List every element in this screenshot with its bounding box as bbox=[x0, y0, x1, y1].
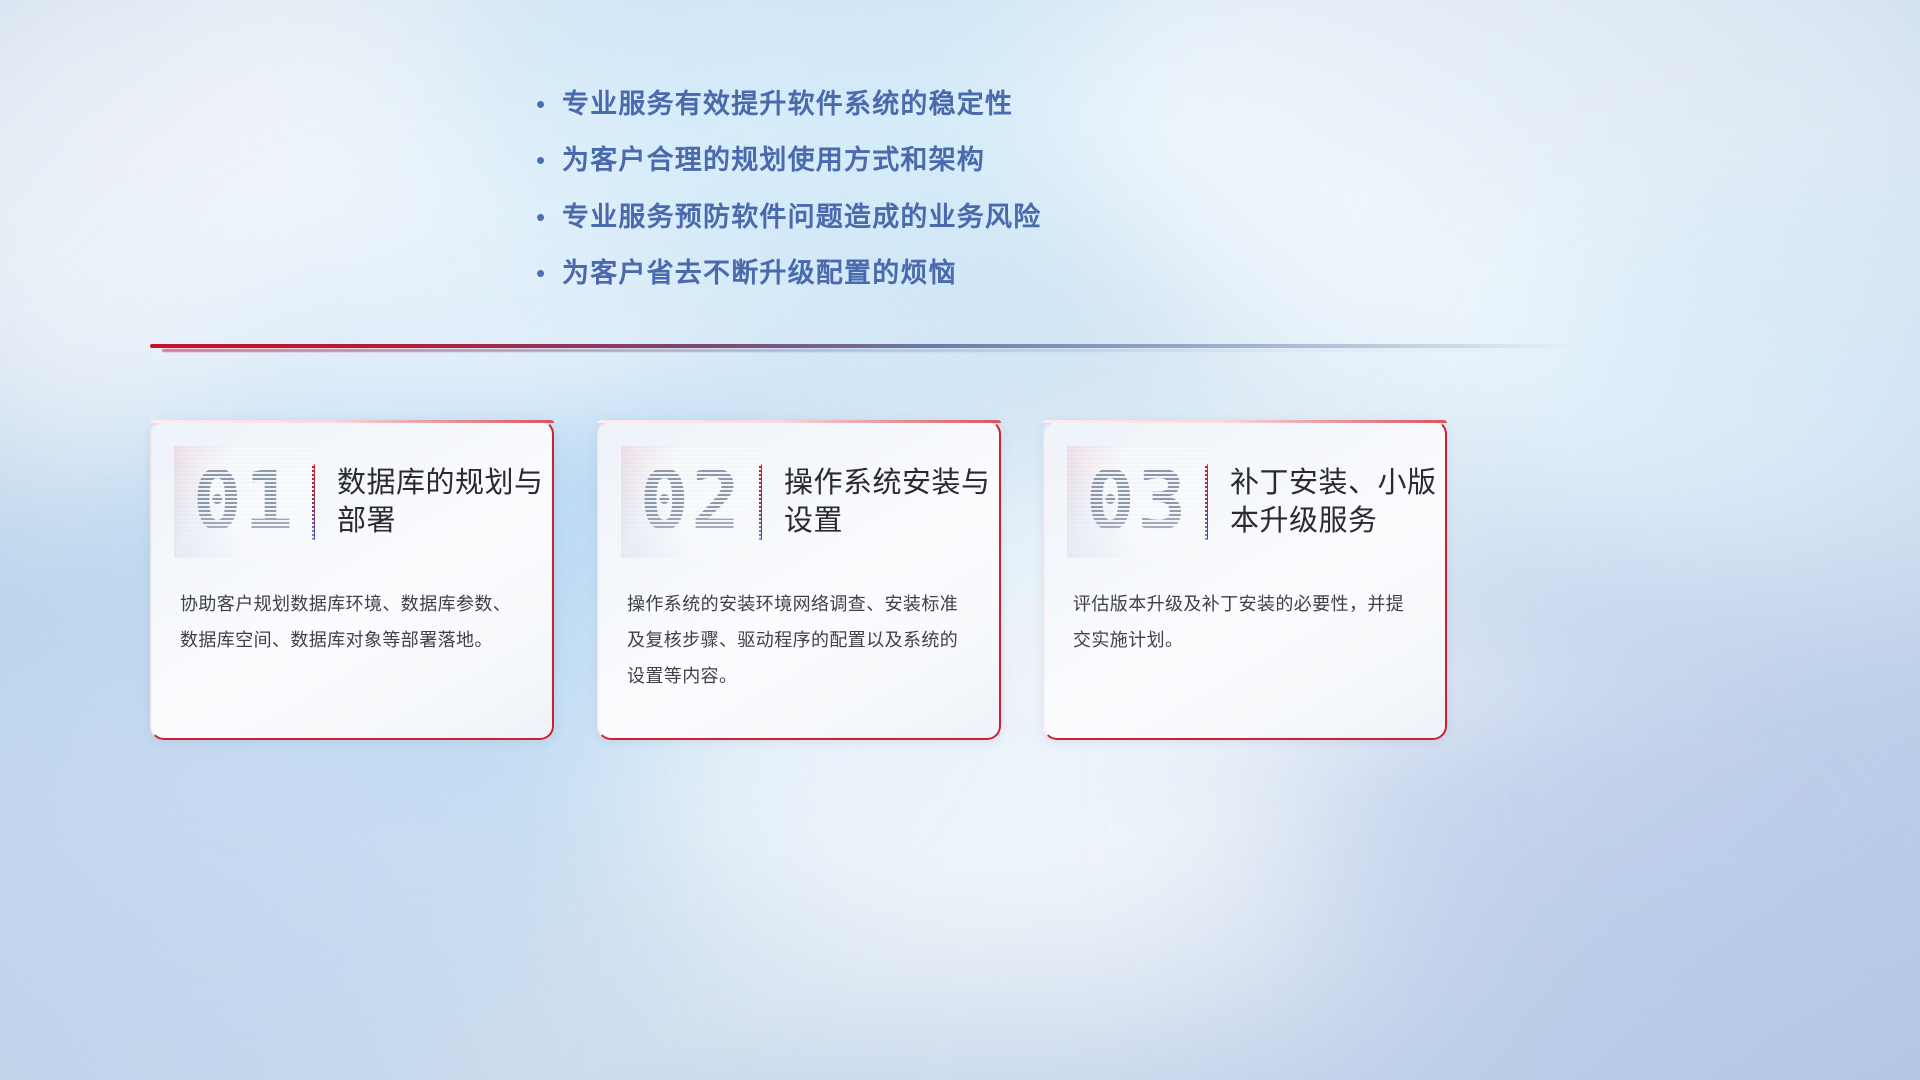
bullet-marker-icon: • bbox=[528, 91, 562, 117]
bullet-marker-icon: • bbox=[528, 204, 562, 230]
card-03[interactable]: 03 补丁安装、小版本升级服务 评估版本升级及补丁安装的必要性，并提交实施计划。 bbox=[1043, 420, 1447, 740]
bullet-marker-icon: • bbox=[528, 260, 562, 286]
bullet-item: • 为客户合理的规划使用方式和架构 bbox=[528, 142, 1288, 178]
card-header: 02 操作系统安装与设置 bbox=[597, 442, 1001, 562]
bullet-item: • 为客户省去不断升级配置的烦恼 bbox=[528, 255, 1288, 291]
bullet-list: • 专业服务有效提升软件系统的稳定性 • 为客户合理的规划使用方式和架构 • 专… bbox=[528, 86, 1288, 312]
card-header: 01 数据库的规划与部署 bbox=[150, 442, 554, 562]
divider-line-primary bbox=[150, 344, 1574, 348]
card-accent-bar bbox=[312, 464, 315, 540]
bullet-text: 专业服务预防软件问题造成的业务风险 bbox=[562, 199, 1041, 235]
bullet-text: 专业服务有效提升软件系统的稳定性 bbox=[562, 86, 1013, 122]
bullet-marker-icon: • bbox=[528, 147, 562, 173]
bullet-text: 为客户省去不断升级配置的烦恼 bbox=[562, 255, 957, 291]
card-header: 03 补丁安装、小版本升级服务 bbox=[1043, 442, 1447, 562]
card-number-watermark: 01 bbox=[180, 452, 308, 552]
card-body-text: 操作系统的安装环境网络调查、安装标准及复核步骤、驱动程序的配置以及系统的设置等内… bbox=[627, 586, 975, 694]
card-number: 01 bbox=[180, 452, 308, 552]
card-accent-bar bbox=[1205, 464, 1208, 540]
card-body-text: 评估版本升级及补丁安装的必要性，并提交实施计划。 bbox=[1073, 586, 1421, 658]
card-01[interactable]: 01 数据库的规划与部署 协助客户规划数据库环境、数据库参数、数据库空间、数据库… bbox=[150, 420, 554, 740]
card-title: 操作系统安装与设置 bbox=[784, 464, 994, 541]
card-number: 02 bbox=[627, 452, 755, 552]
card-title: 数据库的规划与部署 bbox=[337, 464, 547, 541]
card-body-text: 协助客户规划数据库环境、数据库参数、数据库空间、数据库对象等部署落地。 bbox=[180, 586, 528, 658]
card-02[interactable]: 02 操作系统安装与设置 操作系统的安装环境网络调查、安装标准及复核步骤、驱动程… bbox=[597, 420, 1001, 740]
bullet-item: • 专业服务有效提升软件系统的稳定性 bbox=[528, 86, 1288, 122]
divider-line-secondary bbox=[162, 349, 1572, 352]
bullet-text: 为客户合理的规划使用方式和架构 bbox=[562, 142, 985, 178]
card-title: 补丁安装、小版本升级服务 bbox=[1230, 464, 1440, 541]
bullet-item: • 专业服务预防软件问题造成的业务风险 bbox=[528, 199, 1288, 235]
card-number-watermark: 03 bbox=[1073, 452, 1201, 552]
section-divider bbox=[150, 344, 1574, 354]
card-number-watermark: 02 bbox=[627, 452, 755, 552]
card-number: 03 bbox=[1073, 452, 1201, 552]
card-group: 01 数据库的规划与部署 协助客户规划数据库环境、数据库参数、数据库空间、数据库… bbox=[150, 420, 1580, 750]
card-accent-bar bbox=[759, 464, 762, 540]
